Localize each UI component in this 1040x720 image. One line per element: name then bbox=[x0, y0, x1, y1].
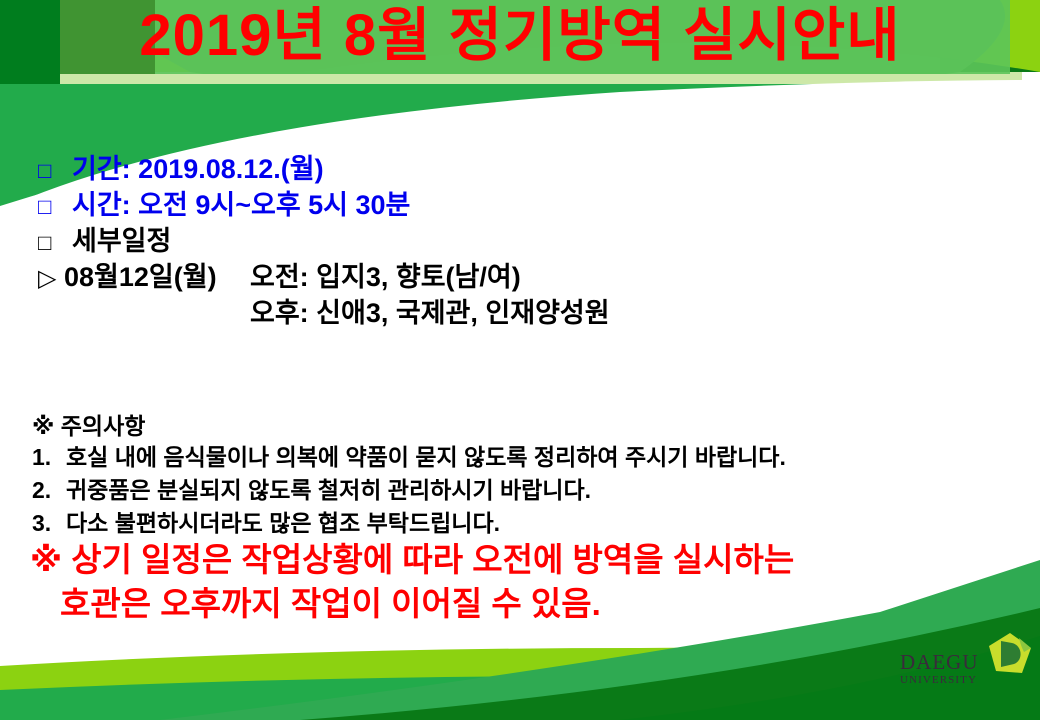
notice-item-2: 2. 귀중품은 분실되지 않도록 철저히 관리하시기 바랍니다. bbox=[32, 474, 1022, 507]
notice-text: 다소 불편하시더라도 많은 협조 부탁드립니다. bbox=[66, 507, 500, 540]
logo-name: DAEGU bbox=[900, 652, 996, 673]
notice-list: ※ 주의사항 1. 호실 내에 음식물이나 의복에 약품이 묻지 않도록 정리하… bbox=[32, 412, 1022, 539]
notice-text: 귀중품은 분실되지 않도록 철저히 관리하시기 바랍니다. bbox=[66, 474, 591, 507]
square-bullet-icon: □ bbox=[38, 228, 72, 257]
warning-line-1: ※ 상기 일정은 작업상황에 따라 오전에 방역을 실시하는 bbox=[30, 538, 1020, 582]
schedule-row-afternoon: 오후: 신애3, 국제관, 인재양성원 bbox=[38, 296, 998, 332]
square-bullet-icon: □ bbox=[38, 192, 72, 221]
info-line-detail-heading: □ 세부일정 bbox=[38, 224, 998, 260]
notice-text: 호실 내에 음식물이나 의복에 약품이 묻지 않도록 정리하여 주시기 바랍니다… bbox=[66, 441, 786, 474]
info-line-time-text: 시간: 오전 9시~오후 5시 30분 bbox=[72, 188, 410, 224]
logo-diamond-icon bbox=[988, 632, 1032, 676]
triangle-bullet-icon: ▷ bbox=[38, 263, 64, 295]
slide-content: □ 기간: 2019.08.12.(월) □ 시간: 오전 9시~오후 5시 3… bbox=[0, 0, 1040, 720]
info-line-time: □ 시간: 오전 9시~오후 5시 30분 bbox=[38, 188, 998, 224]
schedule-morning-text: 오전: 입지3, 향토(남/여) bbox=[250, 260, 521, 296]
notice-heading: ※ 주의사항 bbox=[32, 412, 1022, 441]
logo-subtitle: UNIVERSITY bbox=[900, 673, 996, 687]
schedule-afternoon-text: 오후: 신애3, 국제관, 인재양성원 bbox=[250, 296, 610, 332]
notice-number: 1. bbox=[32, 441, 66, 474]
slide-canvas: 2019년 8월 정기방역 실시안내 □ 기간: 2019.08.12.(월) … bbox=[0, 0, 1040, 720]
schedule-row-morning: ▷ 08월12일(월) 오전: 입지3, 향토(남/여) bbox=[38, 260, 998, 296]
notice-number: 3. bbox=[32, 507, 66, 540]
notice-item-1: 1. 호실 내에 음식물이나 의복에 약품이 묻지 않도록 정리하여 주시기 바… bbox=[32, 441, 1022, 474]
logo-wordmark: DAEGU UNIVERSITY bbox=[900, 652, 996, 687]
info-line-period-text: 기간: 2019.08.12.(월) bbox=[72, 152, 324, 188]
warning-line-2: 호관은 오후까지 작업이 이어질 수 있음. bbox=[30, 582, 1020, 626]
square-bullet-icon: □ bbox=[38, 156, 72, 185]
schedule-date: 08월12일(월) bbox=[64, 260, 250, 296]
info-line-detail-text: 세부일정 bbox=[72, 224, 171, 260]
info-list: □ 기간: 2019.08.12.(월) □ 시간: 오전 9시~오후 5시 3… bbox=[38, 152, 998, 332]
notice-number: 2. bbox=[32, 474, 66, 507]
notice-item-3: 3. 다소 불편하시더라도 많은 협조 부탁드립니다. bbox=[32, 507, 1022, 540]
info-line-period: □ 기간: 2019.08.12.(월) bbox=[38, 152, 998, 188]
warning-note: ※ 상기 일정은 작업상황에 따라 오전에 방역을 실시하는 호관은 오후까지 … bbox=[30, 538, 1020, 626]
daegu-university-logo: DAEGU UNIVERSITY bbox=[900, 632, 1030, 702]
